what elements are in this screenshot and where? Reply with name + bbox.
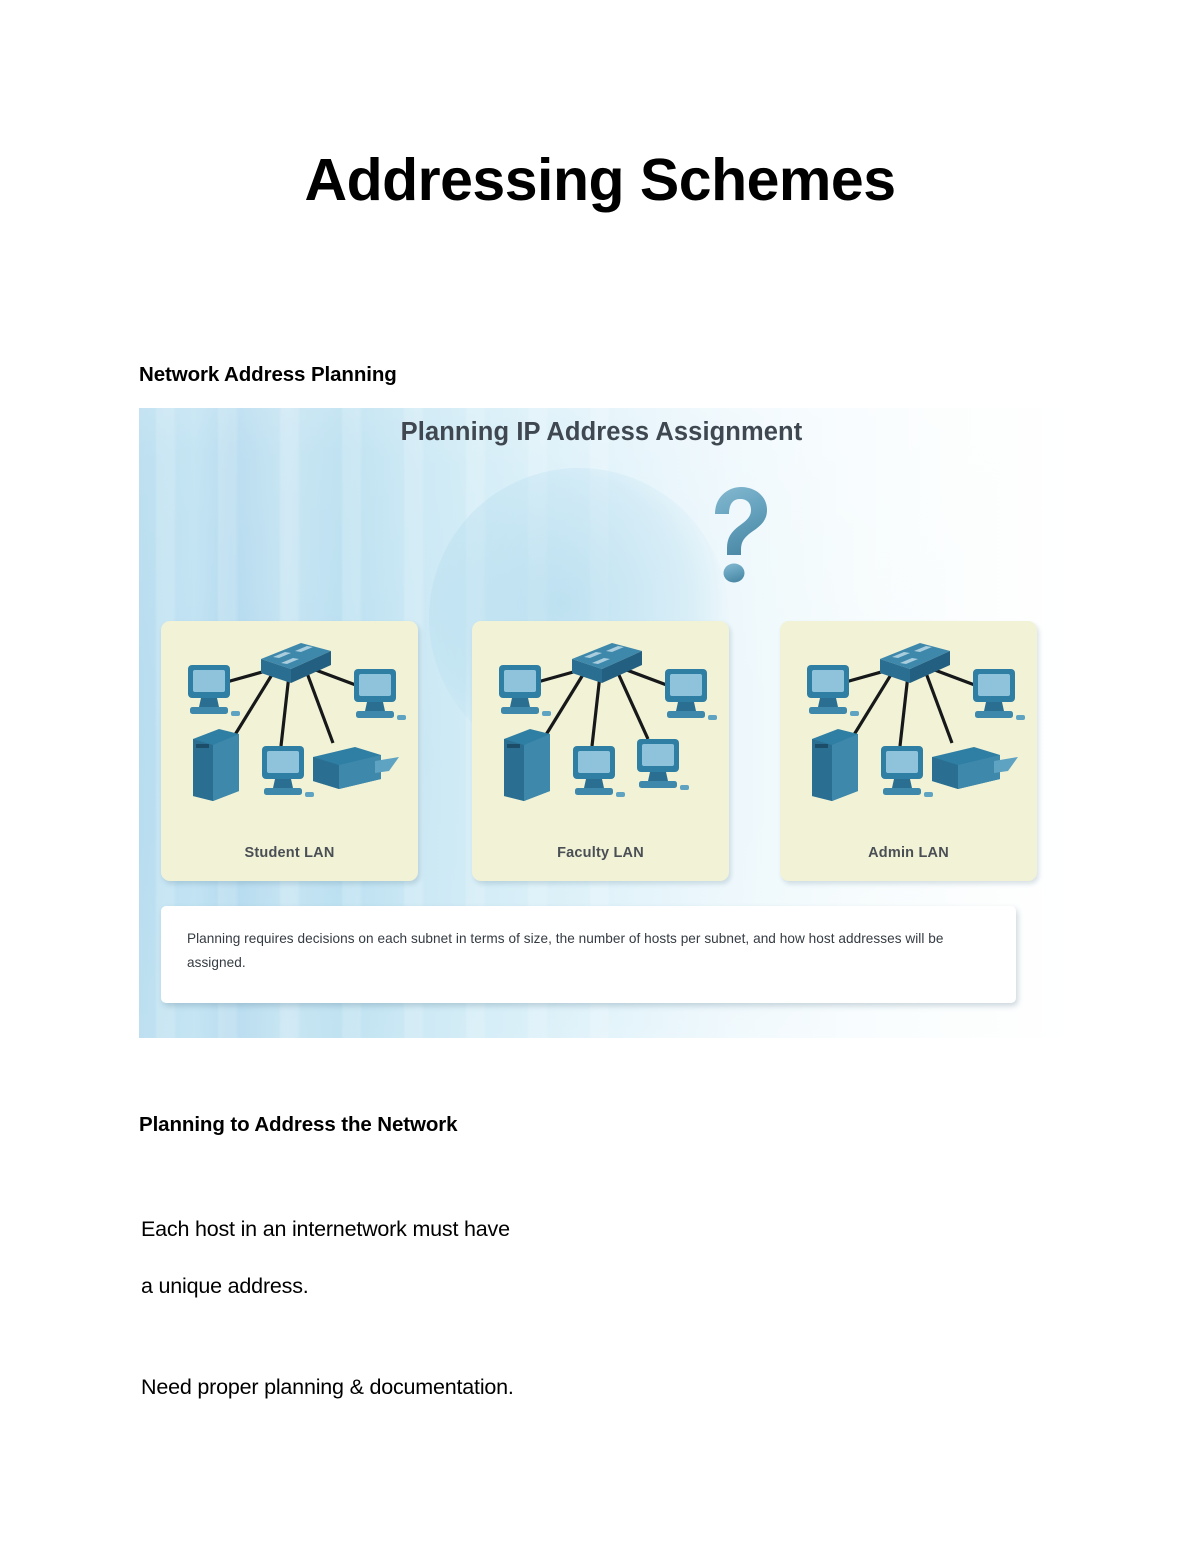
pc-icon <box>973 669 1025 720</box>
body-text-line-2: a unique address. <box>141 1274 309 1299</box>
lan-panel-student: Student LAN <box>161 621 418 881</box>
server-icon <box>812 729 858 801</box>
lan-diagram-admin <box>780 621 1037 831</box>
pc-icon <box>188 665 240 716</box>
lan-panel-admin: Admin LAN <box>780 621 1037 881</box>
printer-icon <box>313 747 399 789</box>
lan-panel-faculty: Faculty LAN <box>472 621 729 881</box>
document-page: Addressing Schemes Network Address Plann… <box>0 0 1200 1553</box>
body-text-line-1: Each host in an internetwork must have <box>141 1217 510 1242</box>
printer-icon <box>932 747 1018 789</box>
lan-panel-label: Admin LAN <box>780 845 1037 861</box>
pc-icon <box>807 665 859 716</box>
server-icon <box>193 729 239 801</box>
question-mark-icon <box>679 478 799 588</box>
lan-panel-label: Student LAN <box>161 845 418 861</box>
body-text-line-3: Need proper planning & documentation. <box>141 1375 514 1400</box>
pc-icon <box>881 746 933 797</box>
figure-title: Planning IP Address Assignment <box>139 418 1064 447</box>
figure-caption-text: Planning requires decisions on each subn… <box>187 927 987 975</box>
pc-icon <box>637 739 689 790</box>
pc-icon <box>262 746 314 797</box>
figure-planning-ip-address-assignment: Planning IP Address Assignment <box>139 408 1064 1038</box>
pc-icon <box>499 665 551 716</box>
page-title: Addressing Schemes <box>0 150 1200 212</box>
lan-diagram-faculty <box>472 621 729 831</box>
pc-icon <box>354 669 406 720</box>
figure-caption-box: Planning requires decisions on each subn… <box>161 906 1016 1003</box>
server-icon <box>504 729 550 801</box>
pc-icon <box>573 746 625 797</box>
heading-planning-to-address-the-network: Planning to Address the Network <box>139 1113 457 1137</box>
lan-diagram-student <box>161 621 418 831</box>
lan-panel-label: Faculty LAN <box>472 845 729 861</box>
pc-icon <box>665 669 717 720</box>
heading-network-address-planning: Network Address Planning <box>139 363 397 387</box>
